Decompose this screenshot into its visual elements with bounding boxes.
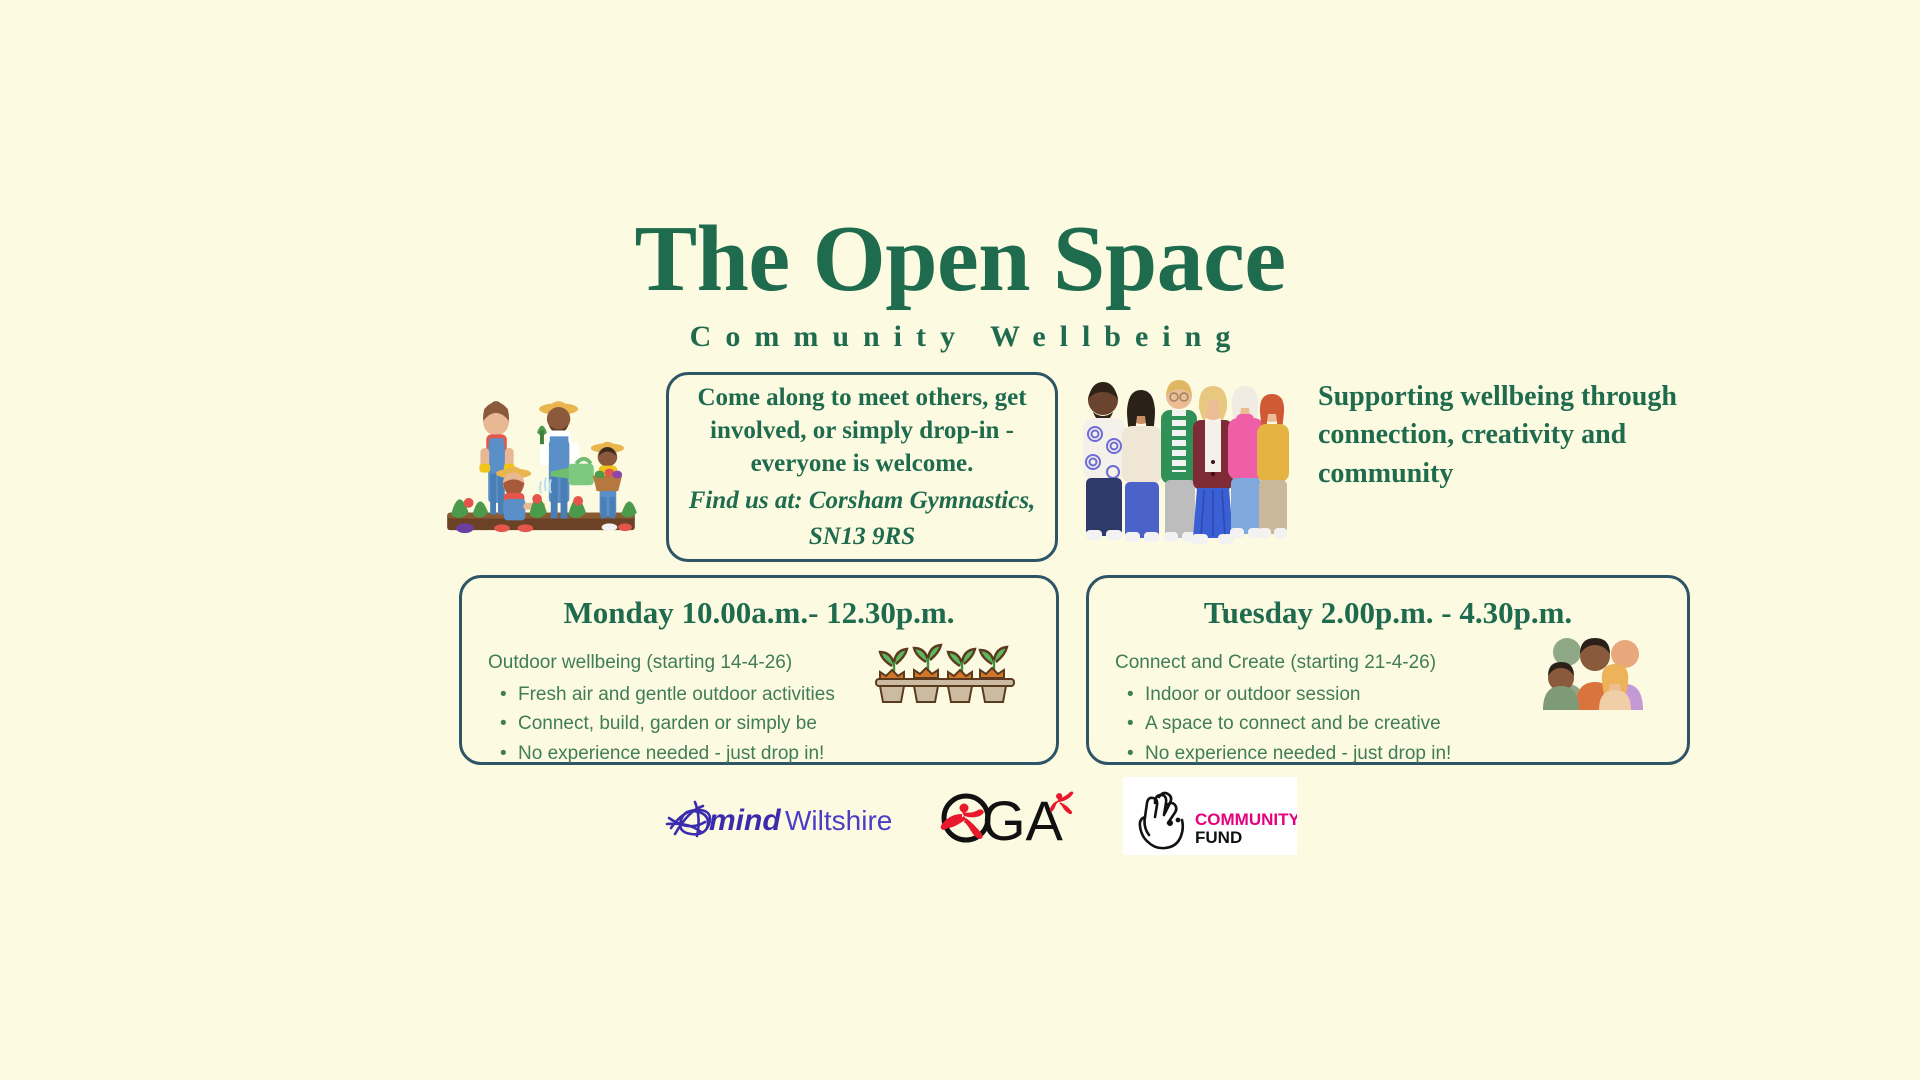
tagline-text: Supporting wellbeing through connection,…	[1318, 378, 1718, 493]
list-item: Connect, build, garden or simply be	[488, 709, 1030, 738]
session-body-tuesday: Connect and Create (starting 21-4-26) In…	[1115, 650, 1661, 768]
venue-line-1: Find us at: Corsham Gymnastics,	[689, 484, 1036, 517]
venue-line-2: SN13 9RS	[809, 520, 915, 553]
group-of-people-icon	[1537, 630, 1653, 710]
intro-message-box: Come along to meet others, get involved,…	[666, 372, 1058, 562]
session-body-monday: Outdoor wellbeing (starting 14-4-26) Fre…	[488, 650, 1030, 768]
session-card-tuesday[interactable]: Tuesday 2.00p.m. - 4.30p.m. Connect and …	[1086, 575, 1690, 765]
list-item: A space to connect and be creative	[1115, 709, 1661, 738]
session-cards-row: Monday 10.00a.m.- 12.30p.m. Outdoor well…	[0, 575, 1920, 765]
session-title-monday: Monday 10.00a.m.- 12.30p.m.	[488, 596, 1030, 630]
intro-message-line-3: everyone is welcome.	[751, 447, 974, 480]
svg-text:mind: mind	[709, 804, 781, 837]
intro-row: Come along to meet others, get involved,…	[0, 366, 1920, 556]
page-title: The Open Space	[0, 212, 1920, 306]
community-fund-line-1: COMMUNITY	[1195, 810, 1297, 829]
list-item: No experience needed - just drop in!	[488, 739, 1030, 768]
mind-wiltshire-logo: mind Wiltshire	[663, 794, 895, 840]
cga-logo: GA	[922, 786, 1096, 850]
svg-text:Wiltshire: Wiltshire	[785, 805, 892, 836]
national-lottery-community-fund-logo: COMMUNITY FUND	[1123, 777, 1297, 855]
intro-message-line-2: involved, or simply drop-in -	[710, 414, 1014, 447]
page-title-block: The Open Space Community Wellbeing	[0, 212, 1920, 354]
seedling-tray-icon	[874, 636, 1016, 706]
session-title-tuesday: Tuesday 2.00p.m. - 4.30p.m.	[1115, 596, 1661, 630]
page-subtitle: Community Wellbeing	[0, 320, 1920, 354]
session-card-monday[interactable]: Monday 10.00a.m.- 12.30p.m. Outdoor well…	[459, 575, 1059, 765]
poster-canvas: The Open Space Community Wellbeing	[0, 0, 1920, 1080]
partner-logos-row: mind Wiltshire GA	[0, 786, 1920, 866]
intro-message-line-1: Come along to meet others, get	[697, 381, 1026, 414]
family-gardening-illustration	[443, 366, 639, 538]
community-fund-line-2: FUND	[1195, 828, 1242, 847]
diverse-group-standing-illustration	[1073, 370, 1291, 548]
list-item: No experience needed - just drop in!	[1115, 739, 1661, 768]
svg-text:GA: GA	[982, 789, 1064, 850]
